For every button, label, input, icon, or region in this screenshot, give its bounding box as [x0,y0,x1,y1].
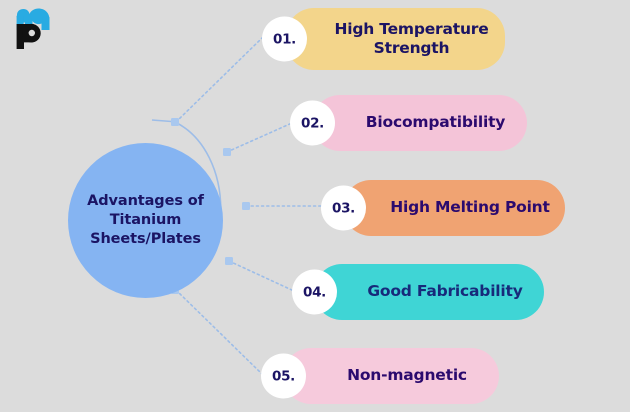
connector-node-2 [223,148,231,156]
advantage-pill-1[interactable]: High Temperature Strength [286,8,505,70]
advantage-number-badge-3: 03. [321,186,366,231]
connector-node-1 [171,118,179,126]
advantage-item-5[interactable]: Non-magnetic 05. [261,348,499,404]
advantage-label-2: Biocompatibility [312,113,527,132]
advantage-label-3: High Melting Point [343,198,565,217]
brand-logo [14,8,68,56]
advantage-number-5: 05. [272,368,295,384]
advantage-label-5: Non-magnetic [283,366,499,385]
advantage-pill-2[interactable]: Biocompatibility [312,95,527,151]
advantage-number-2: 02. [301,115,324,131]
advantage-item-3[interactable]: High Melting Point 03. [321,180,565,236]
advantage-label-1: High Temperature Strength [286,20,505,59]
center-hub: Advantages of Titanium Sheets/Plates [68,143,223,298]
logo-p-icon [17,24,41,49]
advantage-number-badge-5: 05. [261,354,306,399]
advantage-number-badge-2: 02. [290,101,335,146]
connector-line-4 [229,261,294,291]
advantage-pill-3[interactable]: High Melting Point [343,180,565,236]
advantage-number-badge-4: 04. [292,270,337,315]
connector-stub-top [152,120,178,122]
connector-node-4 [225,257,233,265]
advantage-pill-4[interactable]: Good Fabricability [314,264,544,320]
hub-title: Advantages of Titanium Sheets/Plates [81,192,210,249]
advantage-label-4: Good Fabricability [314,282,544,301]
advantage-number-1: 01. [273,31,296,47]
advantage-number-3: 03. [332,200,355,216]
advantage-number-badge-1: 01. [262,17,307,62]
connector-line-1 [176,38,262,122]
advantage-item-4[interactable]: Good Fabricability 04. [292,264,544,320]
advantage-number-4: 04. [303,284,326,300]
connector-line-5 [176,290,262,374]
infographic-canvas: Advantages of Titanium Sheets/Plates Hig… [0,0,630,412]
advantage-item-1[interactable]: High Temperature Strength 01. [262,8,505,70]
connector-line-2 [227,123,292,152]
advantage-pill-5[interactable]: Non-magnetic [283,348,499,404]
connector-node-3 [242,202,250,210]
advantage-item-2[interactable]: Biocompatibility 02. [290,95,527,151]
